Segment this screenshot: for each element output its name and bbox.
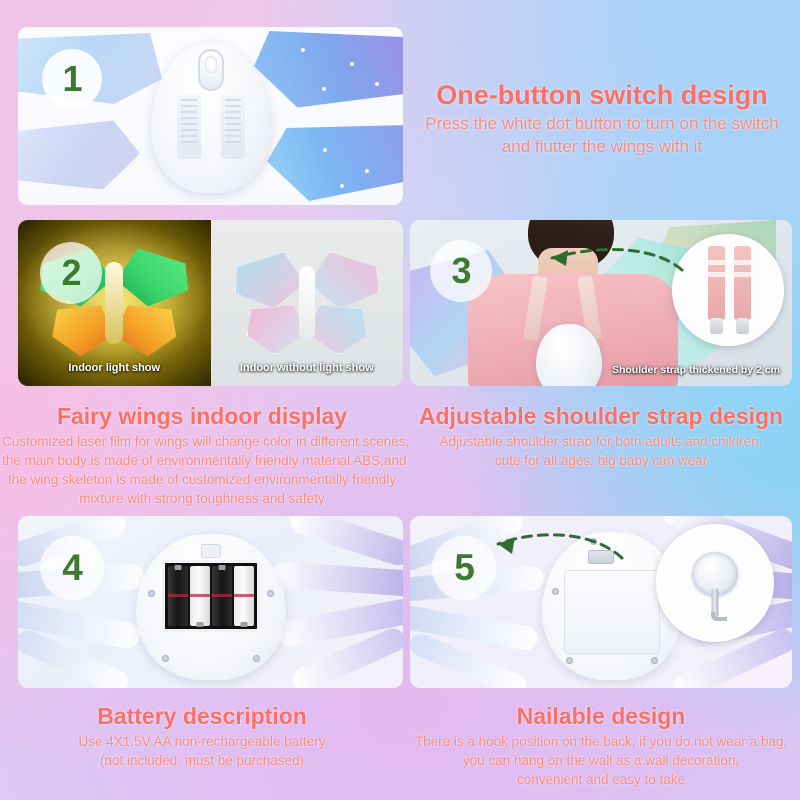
section-4-title: Battery description: [2, 700, 402, 732]
wing-top-right: [254, 31, 403, 109]
section-2-photo: Indoor light show Indoor without light s…: [18, 220, 403, 386]
unlit-wing-bottom-right: [307, 304, 367, 354]
section-2-line-2: the main body is made of environmentally…: [2, 451, 402, 470]
power-switch: [198, 49, 224, 91]
lit-body: [105, 262, 123, 344]
inset-clip-right: [736, 318, 749, 334]
indoor-light-show-label: Indoor light show: [18, 362, 211, 374]
inset-strap-left: [708, 246, 725, 320]
white-dot-button: [205, 56, 217, 73]
section-3-line-2: cute for all ages, big baby can wear: [404, 451, 798, 470]
section-5-line-1: There is a hook position on the back, if…: [404, 732, 798, 751]
section-5-caption: Nailable design There is a hook position…: [404, 700, 798, 789]
section-5-photo: 5: [410, 516, 792, 688]
unlit-wing-bottom-left: [247, 304, 307, 354]
section-3-caption: Adjustable shoulder strap design Adjusta…: [404, 400, 798, 470]
section-1-photo: 1: [18, 27, 403, 205]
indoor-light-show-image: Indoor light show: [18, 220, 211, 386]
section-3-line-1: Adjustable shoulder strap for both adult…: [404, 432, 798, 451]
product-infographic: 1 One-button switch design Press the whi…: [0, 0, 800, 800]
device-body: [151, 43, 271, 193]
battery-cell: [168, 566, 188, 626]
unlit-body: [299, 266, 315, 340]
battery-cover: [564, 570, 660, 654]
hook-tip: [711, 612, 727, 621]
step-badge-2: 2: [40, 242, 102, 304]
step-badge-4: 4: [40, 536, 104, 600]
step-badge-5: 5: [432, 536, 496, 600]
section-2-title: Fairy wings indoor display: [2, 400, 402, 432]
callout-arrow-icon: [532, 242, 692, 292]
inset-clip-left: [710, 318, 723, 334]
shoulder-strap-note: Shoulder strap thickened by 2 cm: [612, 364, 780, 376]
unlit-wing-top-left: [235, 252, 305, 308]
wing-bottom-left: [18, 119, 140, 191]
section-3-title: Adjustable shoulder strap design: [404, 400, 798, 432]
section-4-caption: Battery description Use 4X1.5V AA non-re…: [2, 700, 402, 770]
section-1-caption: One-button switch design Press the white…: [406, 78, 798, 158]
section-4-line-2: (not included, must be purchased): [2, 751, 402, 770]
step-badge-3: 3: [430, 240, 492, 302]
indoor-without-light-show-label: Indoor without light show: [211, 362, 404, 374]
wing-mount-right: [221, 95, 245, 159]
battery-cell: [234, 566, 254, 626]
cover-latch: [201, 544, 221, 558]
section-2-line-3: the wing skeleton is made of customized …: [2, 470, 402, 489]
section-2-line-1: Customized laser film for wings will cha…: [2, 432, 402, 451]
unlit-wing-top-right: [309, 252, 379, 308]
battery-cell: [190, 566, 210, 626]
section-5-line-2: you can hang on the wall as a wall decor…: [404, 751, 798, 770]
section-2-caption: Fairy wings indoor display Customized la…: [2, 400, 402, 508]
battery-compartment: [162, 560, 260, 632]
section-5-line-3: convenient and easy to take: [404, 770, 798, 789]
battery-cell: [212, 566, 232, 626]
section-2-line-4: mixture with strong toughness and safety: [2, 489, 402, 508]
step-badge-1: 1: [42, 49, 102, 109]
section-1-title: One-button switch design: [406, 78, 798, 112]
device-body-back-open: [136, 534, 286, 680]
section-5-title: Nailable design: [404, 700, 798, 732]
section-1-line-2: and flutter the wings with it: [406, 135, 798, 158]
section-3-photo: Shoulder strap thickened by 2 cm 3: [410, 220, 792, 386]
wing-bottom-right: [267, 125, 403, 201]
wing-mount-left: [177, 95, 201, 159]
wall-hook-inset: [656, 524, 774, 642]
section-4-photo: 4: [18, 516, 403, 688]
inset-strap-right: [734, 246, 751, 320]
indoor-without-light-show-image: Indoor without light show: [211, 220, 404, 386]
callout-arrow-icon: [480, 528, 630, 578]
section-4-line-1: Use 4X1.5V AA non-rechargeable battery: [2, 732, 402, 751]
section-1-line-1: Press the white dot button to turn on th…: [406, 112, 798, 135]
